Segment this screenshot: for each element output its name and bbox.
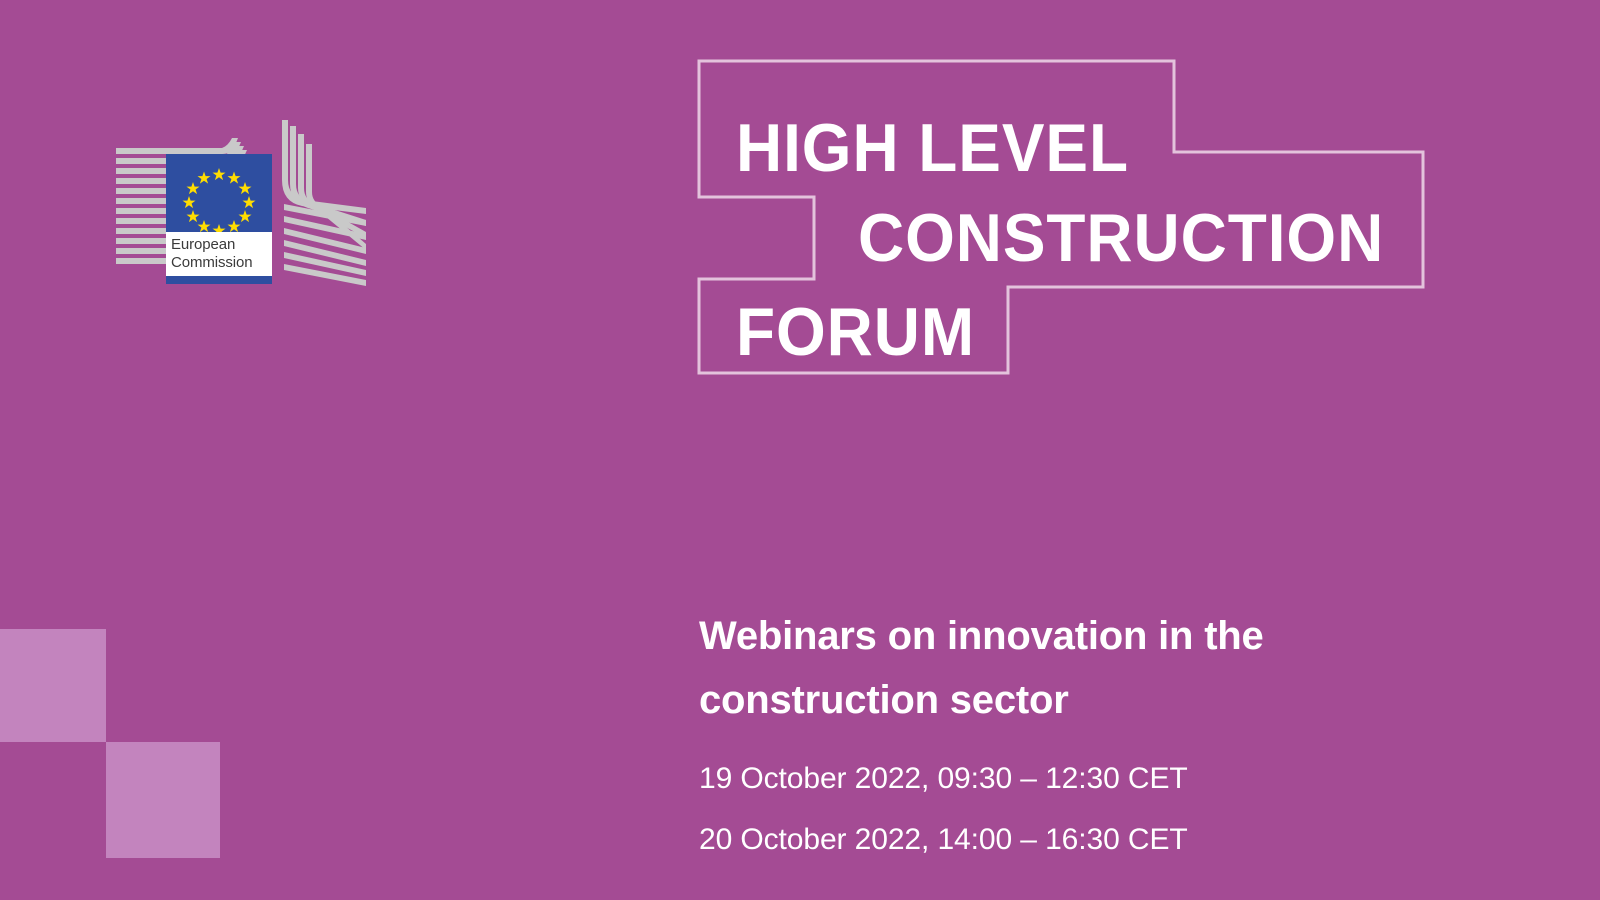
- webinar-date-list: 19 October 2022, 09:30 – 12:30 CET 20 Oc…: [699, 748, 1459, 870]
- webinar-title-line-2: construction sector: [699, 668, 1459, 732]
- logo-wave-right: [282, 120, 366, 286]
- lockup-line-1: HIGH LEVEL: [736, 114, 1129, 182]
- decorative-square-lower: [106, 742, 220, 858]
- logo-wordmark-line-2: Commission: [171, 254, 272, 272]
- logo-wordmark: European Commission: [166, 232, 272, 276]
- eu-flag: [166, 154, 272, 236]
- decorative-square-upper: [0, 629, 106, 742]
- lockup-line-3: FORUM: [736, 298, 975, 366]
- webinar-title-line-1: Webinars on innovation in the: [699, 604, 1459, 668]
- presentation-slide: European Commission HIGH LEVEL CONSTRUCT…: [0, 0, 1600, 900]
- european-commission-logo: European Commission: [104, 104, 372, 290]
- webinar-info-block: Webinars on innovation in the constructi…: [699, 604, 1459, 870]
- lockup-line-2: CONSTRUCTION: [858, 204, 1384, 272]
- webinar-date-2: 20 October 2022, 14:00 – 16:30 CET: [699, 809, 1459, 870]
- logo-wordmark-line-1: European: [171, 236, 272, 254]
- webinar-date-1: 19 October 2022, 09:30 – 12:30 CET: [699, 748, 1459, 809]
- logo-bottom-bar: [166, 276, 272, 284]
- webinar-title: Webinars on innovation in the constructi…: [699, 604, 1459, 732]
- event-title-lockup: HIGH LEVEL CONSTRUCTION FORUM: [690, 52, 1436, 387]
